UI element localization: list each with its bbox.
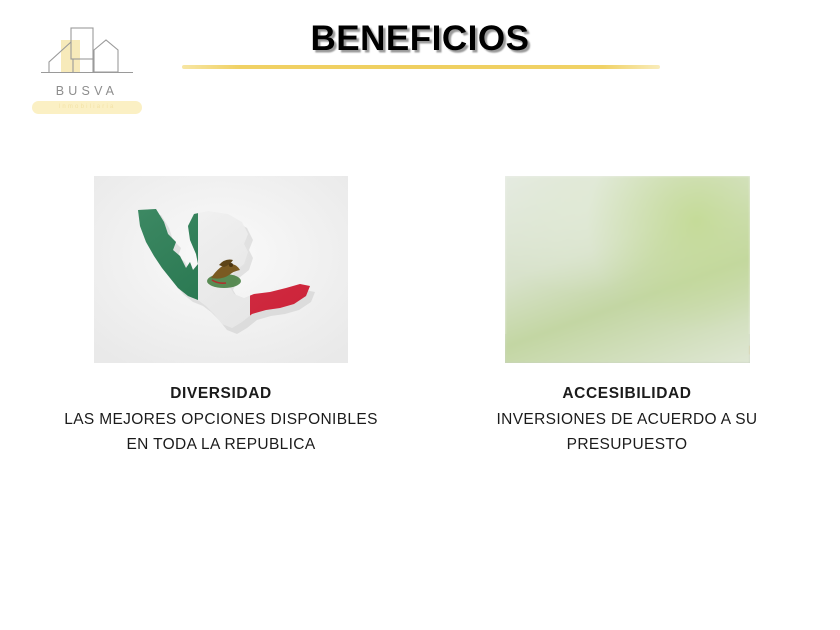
benefit-heading: ACCESIBILIDAD bbox=[430, 383, 824, 404]
benefit-description-line-2: PRESUPUESTO bbox=[430, 432, 824, 457]
brand-name: BUSVA bbox=[28, 84, 146, 98]
benefit-heading: DIVERSIDAD bbox=[16, 383, 426, 404]
benefit-caption-accesibilidad: ACCESIBILIDAD INVERSIONES DE ACUERDO A S… bbox=[430, 383, 824, 457]
benefit-description-line-1: INVERSIONES DE ACUERDO A SU bbox=[430, 407, 824, 432]
benefit-column-diversidad: DIVERSIDAD LAS MEJORES OPCIONES DISPONIB… bbox=[16, 176, 426, 457]
benefit-description-line-1: LAS MEJORES OPCIONES DISPONIBLES bbox=[16, 407, 426, 432]
title-underline-rule bbox=[182, 65, 660, 69]
benefit-caption-diversidad: DIVERSIDAD LAS MEJORES OPCIONES DISPONIB… bbox=[16, 383, 426, 457]
slide-root: BUSVA Inmobiliaria BENEFICIOS bbox=[0, 0, 840, 630]
brand-tagline: Inmobiliaria bbox=[32, 102, 142, 113]
house-and-coins-image bbox=[505, 176, 750, 363]
benefit-description-line-2: EN TODA LA REPUBLICA bbox=[16, 432, 426, 457]
page-title: BENEFICIOS bbox=[0, 19, 840, 59]
mexico-flag-map-image bbox=[94, 176, 348, 363]
benefit-column-accesibilidad: ACCESIBILIDAD INVERSIONES DE ACUERDO A S… bbox=[430, 176, 824, 457]
